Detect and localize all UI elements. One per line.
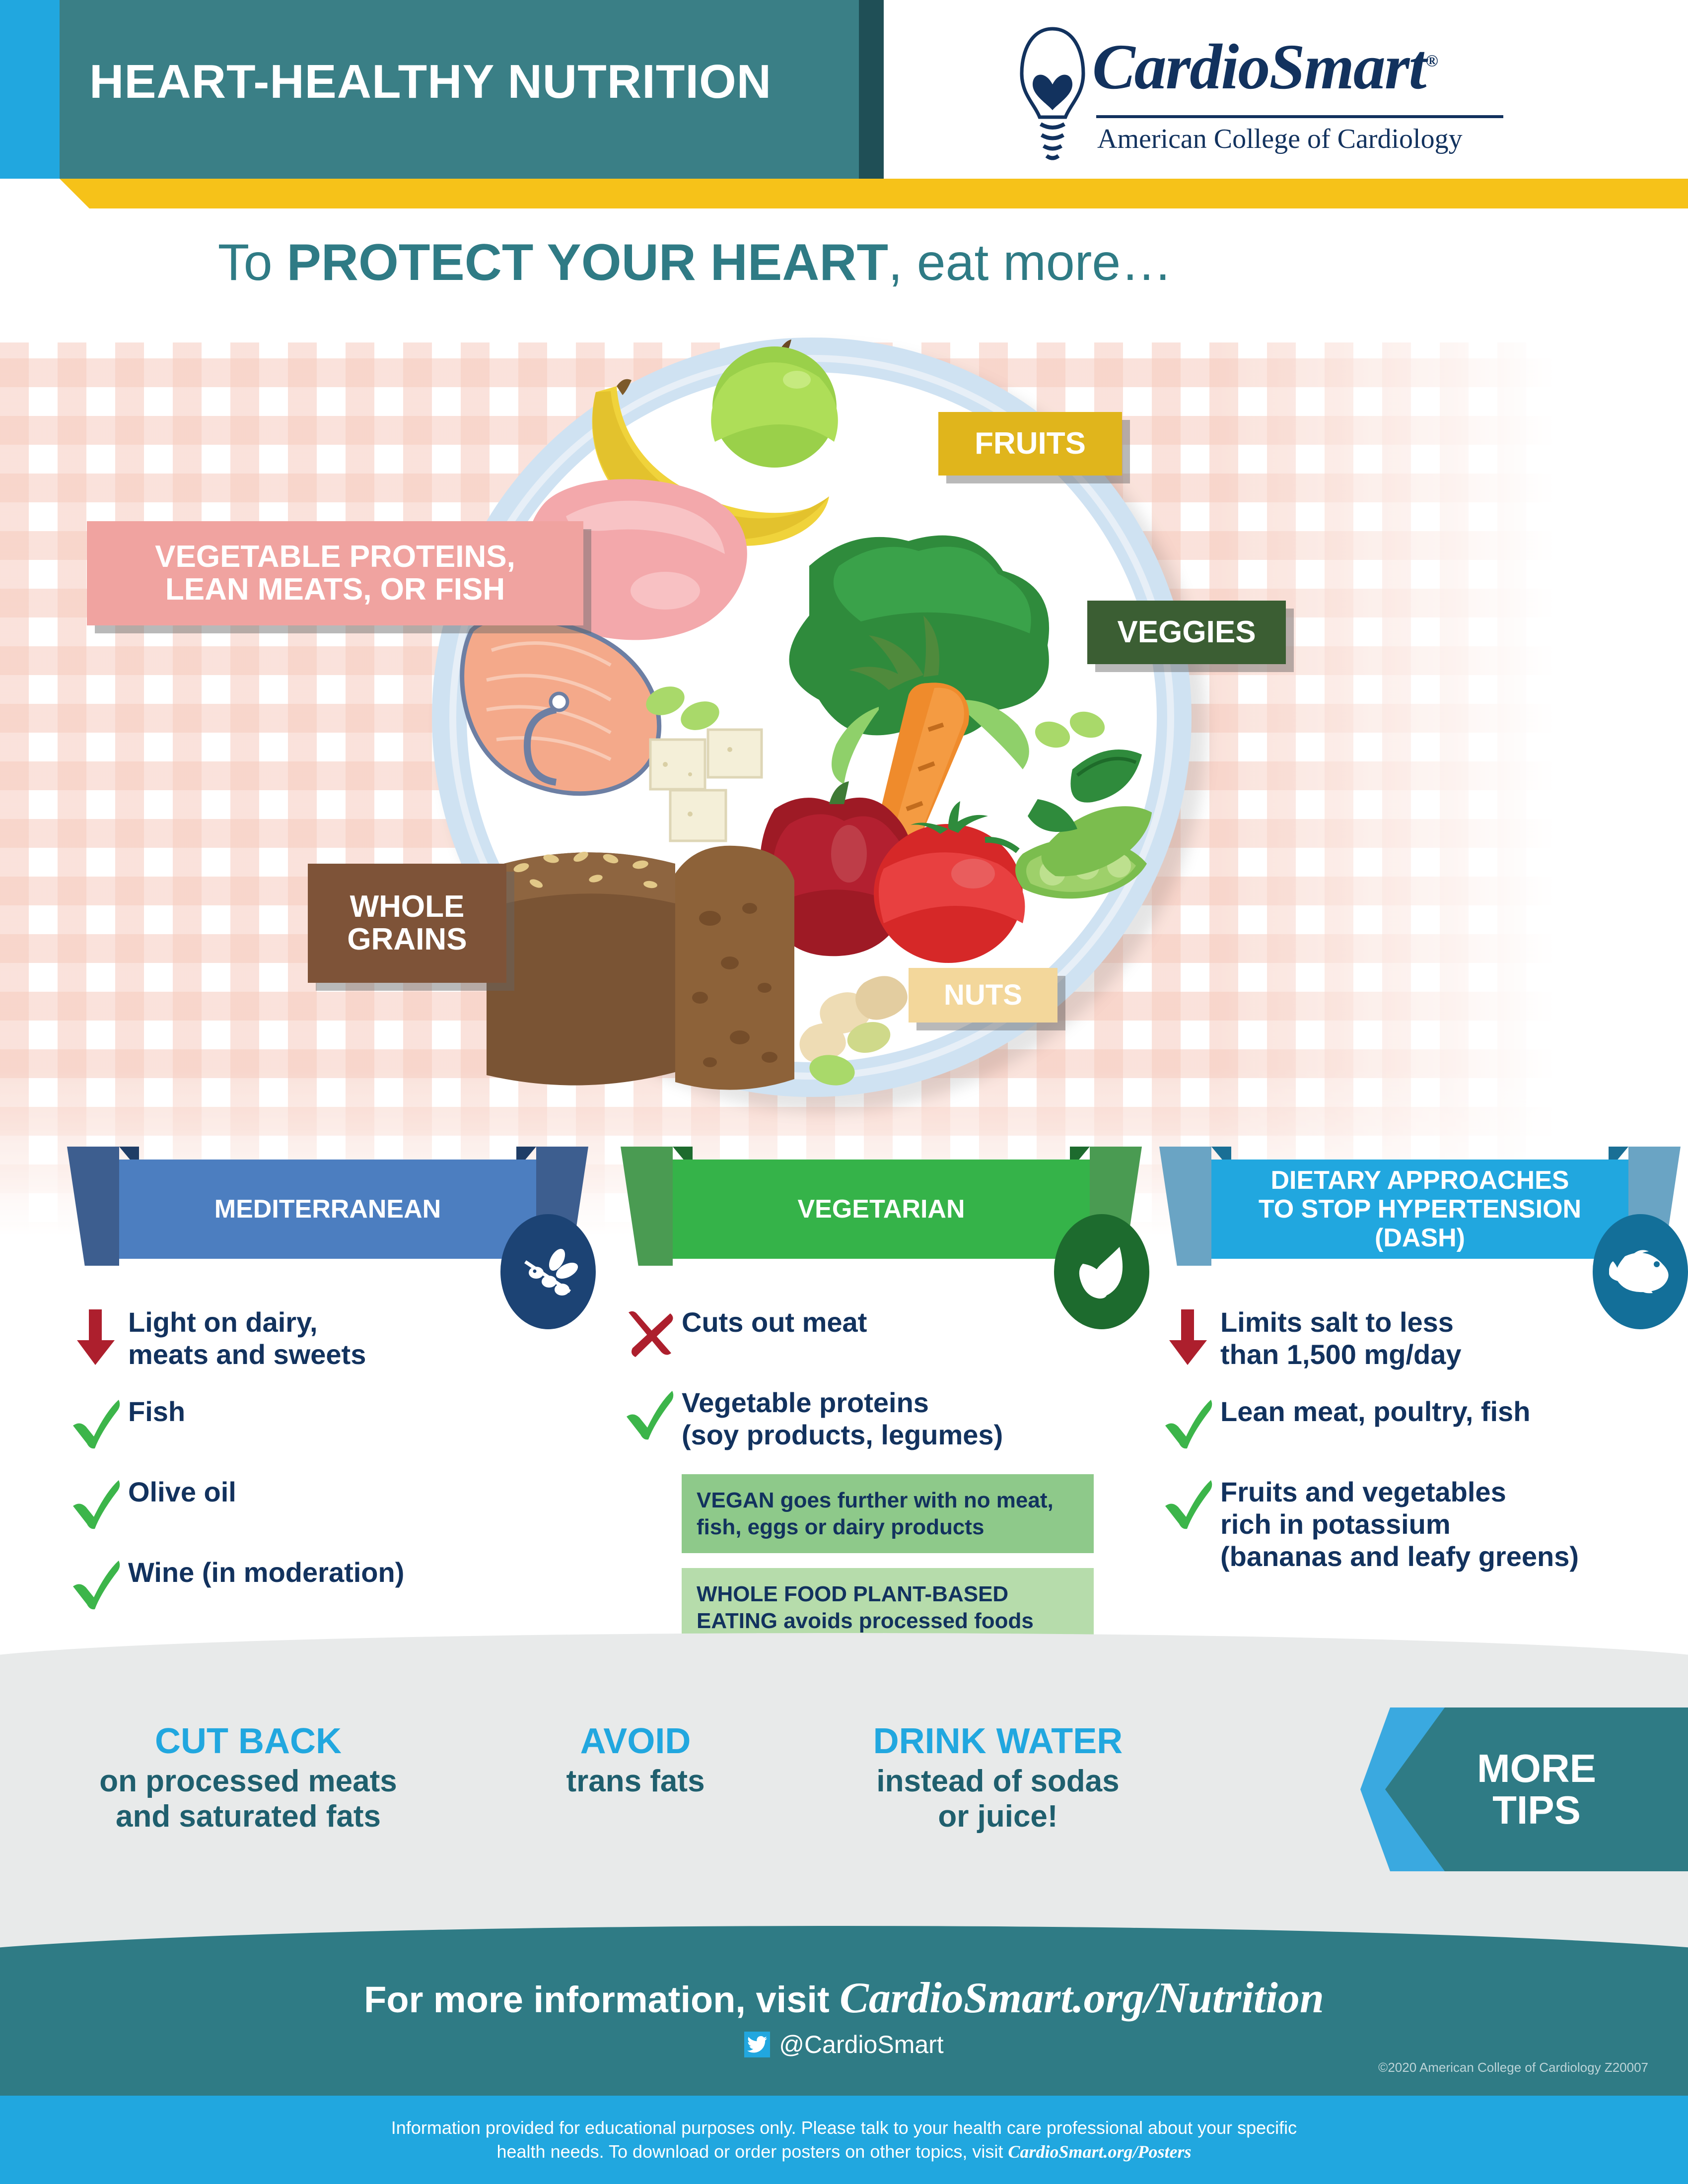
header-yellow-rule [60, 179, 1688, 208]
check-icon [69, 1477, 124, 1532]
tip-drink-water-head: DRINK WATER [774, 1722, 1221, 1760]
green-apple-icon [711, 340, 838, 468]
bullet-text: Lean meat, poultry, fish [1220, 1394, 1530, 1428]
tip-drink-water: DRINK WATER instead of sodas or juice! [774, 1722, 1221, 1835]
twitter-icon [744, 2032, 770, 2057]
check-icon-wrap [65, 1555, 128, 1612]
diet-column-mediterranean: MEDITERRANEANLight on dairy, meats and s… [65, 1137, 591, 1635]
tip-avoid: AVOID trans fats [496, 1722, 774, 1835]
check-icon-wrap [65, 1394, 128, 1451]
plate-label-whole-grains: WHOLE GRAINS [308, 864, 506, 983]
tips-row: CUT BACK on processed meats and saturate… [0, 1722, 1340, 1835]
bullet-item: Limits salt to less than 1,500 mg/day [1157, 1304, 1683, 1371]
down-arrow-icon-wrap [1157, 1304, 1220, 1367]
bullet-item: Olive oil [65, 1474, 591, 1532]
subtitle-lead: To [218, 234, 287, 291]
check-icon-wrap [618, 1385, 682, 1442]
tofu-cubes-icon [650, 730, 762, 841]
diet-ribbon-dash: DIETARY APPROACHES TO STOP HYPERTENSION … [1157, 1137, 1683, 1276]
disclaimer-url[interactable]: CardioSmart.org/Posters [1008, 2142, 1191, 2162]
plate-label-protein: VEGETABLE PROTEINS, LEAN MEATS, OR FISH [87, 521, 583, 625]
bullet-text: Vegetable proteins (soy products, legume… [682, 1385, 1003, 1451]
disclaimer-bar: Information provided for educational pur… [0, 2096, 1688, 2184]
x-icon-wrap [618, 1304, 682, 1362]
bullet-text: Fruits and vegetables rich in potassium … [1220, 1474, 1579, 1573]
ribbon-tail-left [621, 1147, 673, 1266]
x-icon [623, 1307, 677, 1362]
bullet-text: Olive oil [128, 1474, 236, 1508]
registered-mark: ® [1426, 52, 1437, 70]
bullet-text: Light on dairy, meats and sweets [128, 1304, 366, 1371]
diet-bullets-mediterranean: Light on dairy, meats and sweetsFishOliv… [65, 1304, 591, 1612]
tip-avoid-body: trans fats [496, 1764, 774, 1799]
bread-slice-icon [675, 846, 794, 1090]
down-arrow-icon [69, 1307, 124, 1367]
footer-cta: For more information, visit CardioSmart.… [0, 1973, 1688, 2023]
bullet-item: Fruits and vegetables rich in potassium … [1157, 1474, 1683, 1573]
bullet-item: Lean meat, poultry, fish [1157, 1394, 1683, 1451]
tip-cut-back-body: on processed meats and saturated fats [0, 1764, 496, 1834]
diet-column-dash: DIETARY APPROACHES TO STOP HYPERTENSION … [1157, 1137, 1683, 1596]
plate-label-fruits: FRUITS [938, 412, 1122, 476]
check-icon [623, 1388, 677, 1442]
more-tips-button[interactable]: MORE TIPS [1385, 1707, 1688, 1871]
cardiosmart-logo: CardioSmart® American College of Cardiol… [1018, 20, 1544, 169]
footer-cta-lead: For more information, visit [364, 1979, 840, 2020]
check-icon [69, 1397, 124, 1451]
check-icon-wrap [65, 1474, 128, 1532]
poster-subtitle: To PROTECT YOUR HEART, eat more… [0, 233, 1390, 292]
tip-cut-back-head: CUT BACK [0, 1722, 496, 1760]
bullet-item: Cuts out meat [618, 1304, 1144, 1362]
bullet-item: Fish [65, 1394, 591, 1451]
whole-grain-bread-icon [487, 846, 794, 1090]
plate-label-veggies: VEGGIES [1087, 601, 1286, 664]
diet-title-dash: DIETARY APPROACHES TO STOP HYPERTENSION … [1211, 1160, 1628, 1259]
bullet-text: Limits salt to less than 1,500 mg/day [1220, 1304, 1462, 1371]
diet-bullets-dash: Limits salt to less than 1,500 mg/dayLea… [1157, 1304, 1683, 1573]
diet-column-vegetarian: VEGETARIANCuts out meatVegetable protein… [618, 1137, 1144, 1662]
olive-branch-icon [518, 1242, 578, 1301]
bullet-item: Wine (in moderation) [65, 1555, 591, 1612]
diet-bullets-vegetarian: Cuts out meatVegetable proteins (soy pro… [618, 1304, 1144, 1647]
diet-title-mediterranean: MEDITERRANEAN [119, 1160, 536, 1259]
logo-divider [1096, 115, 1503, 118]
footer-url[interactable]: CardioSmart.org/Nutrition [840, 1974, 1324, 2022]
logo-wordmark: CardioSmart® [1092, 30, 1437, 104]
diet-ribbon-mediterranean: MEDITERRANEAN [65, 1137, 591, 1276]
bullet-text: Fish [128, 1394, 185, 1428]
fish-icon [1609, 1244, 1672, 1299]
page-title: HEART-HEALTHY NUTRITION [89, 55, 834, 109]
down-arrow-icon-wrap [65, 1304, 128, 1367]
logo-subtitle: American College of Cardiology [1097, 123, 1463, 155]
header-teal-dark-edge [859, 0, 884, 179]
leaves-icon [1072, 1242, 1131, 1301]
diet-note: VEGAN goes further with no meat, fish, e… [682, 1474, 1094, 1553]
diet-note-caps: VEGAN [697, 1488, 774, 1512]
more-tips-line1: MORE [1477, 1748, 1596, 1789]
more-tips-line2: TIPS [1492, 1789, 1581, 1831]
check-icon [69, 1558, 124, 1612]
diet-ribbon-vegetarian: VEGETARIAN [618, 1137, 1144, 1276]
bullet-text: Cuts out meat [682, 1304, 867, 1339]
ribbon-tail-left [67, 1147, 119, 1266]
diet-note-rest: avoids processed foods [777, 1609, 1034, 1633]
ribbon-tail-left [1159, 1147, 1211, 1266]
bullet-text: Wine (in moderation) [128, 1555, 404, 1589]
nuts-icon [799, 976, 907, 1089]
bullet-item: Light on dairy, meats and sweets [65, 1304, 591, 1371]
subtitle-tail: , eat more… [888, 234, 1172, 291]
tip-avoid-head: AVOID [496, 1722, 774, 1760]
check-icon-wrap [1157, 1394, 1220, 1451]
lightbulb-heart-icon [1018, 25, 1087, 164]
subtitle-emphasis: PROTECT YOUR HEART [287, 234, 889, 291]
check-icon-wrap [1157, 1474, 1220, 1532]
twitter-handle[interactable]: @CardioSmart [779, 2030, 943, 2059]
twitter-row[interactable]: @CardioSmart [0, 2030, 1688, 2059]
diet-title-vegetarian: VEGETARIAN [673, 1160, 1090, 1259]
salmon-steak-icon [462, 617, 659, 793]
down-arrow-icon [1161, 1307, 1216, 1367]
copyright-notice: ©2020 American College of Cardiology Z20… [1378, 2060, 1648, 2075]
check-icon [1161, 1477, 1216, 1532]
tip-cut-back: CUT BACK on processed meats and saturate… [0, 1722, 496, 1835]
disclaimer-text: Information provided for educational pur… [372, 2116, 1316, 2164]
tip-drink-water-body: instead of sodas or juice! [774, 1764, 1221, 1834]
plate-label-nuts: NUTS [909, 968, 1057, 1023]
poster-root: HEART-HEALTHY NUTRITION CardioSmart® Ame… [0, 0, 1688, 2184]
bullet-item: Vegetable proteins (soy products, legume… [618, 1385, 1144, 1451]
header-blue-accent-strip [0, 0, 60, 179]
check-icon [1161, 1397, 1216, 1451]
